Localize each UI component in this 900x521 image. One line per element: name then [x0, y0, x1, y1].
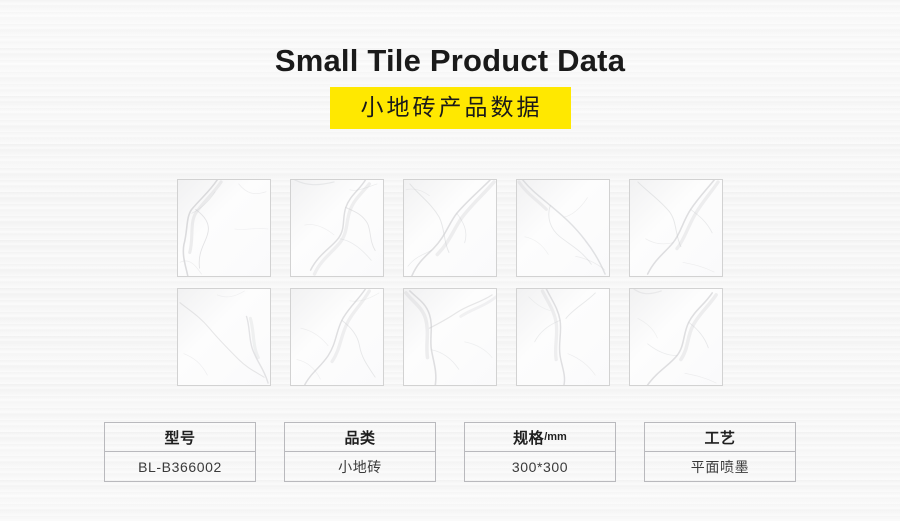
tile-swatch[interactable]	[629, 179, 723, 277]
tile-swatch[interactable]	[290, 288, 384, 386]
marble-vein-graphic	[404, 289, 496, 385]
spec-column-category: 品类 小地砖	[284, 422, 436, 482]
spec-header-label: 规格	[513, 427, 544, 448]
tile-swatch[interactable]	[516, 179, 610, 277]
spec-column-model: 型号 BL-B366002	[104, 422, 256, 482]
spec-value-cell: 小地砖	[285, 452, 435, 481]
marble-vein-graphic	[178, 180, 270, 276]
spec-header-cell: 工艺	[645, 423, 795, 452]
subtitle-container: 小地砖产品数据	[0, 87, 900, 129]
tile-swatch-gallery	[177, 179, 723, 386]
spec-header-label: 型号	[164, 427, 195, 448]
tile-swatch[interactable]	[177, 179, 271, 277]
tile-swatch[interactable]	[629, 288, 723, 386]
marble-vein-graphic	[517, 289, 609, 385]
marble-vein-graphic	[517, 180, 609, 276]
page-title-english: Small Tile Product Data	[0, 44, 900, 78]
marble-vein-graphic	[630, 289, 722, 385]
spec-header-unit: /mm	[544, 431, 567, 443]
spec-value-cell: 300*300	[465, 452, 615, 481]
spec-header-label: 工艺	[704, 427, 735, 448]
spec-column-size: 规格/mm 300*300	[464, 422, 616, 482]
spec-column-process: 工艺 平面喷墨	[644, 422, 796, 482]
marble-vein-graphic	[404, 180, 496, 276]
marble-vein-graphic	[178, 289, 270, 385]
spec-table: 型号 BL-B366002 品类 小地砖 规格/mm 300*300 工艺 平面…	[104, 422, 796, 482]
tile-swatch[interactable]	[177, 288, 271, 386]
tile-swatch[interactable]	[403, 288, 497, 386]
spec-value-cell: BL-B366002	[105, 452, 255, 481]
page-header: Small Tile Product Data 小地砖产品数据	[0, 44, 900, 129]
spec-header-cell: 品类	[285, 423, 435, 452]
marble-vein-graphic	[291, 180, 383, 276]
spec-header-cell: 型号	[105, 423, 255, 452]
spec-header-cell: 规格/mm	[465, 423, 615, 452]
spec-header-label: 品类	[344, 427, 375, 448]
marble-vein-graphic	[630, 180, 722, 276]
marble-vein-graphic	[291, 289, 383, 385]
spec-value-cell: 平面喷墨	[645, 452, 795, 481]
tile-swatch[interactable]	[403, 179, 497, 277]
page-background: Small Tile Product Data 小地砖产品数据	[0, 0, 900, 521]
tile-swatch[interactable]	[290, 179, 384, 277]
tile-swatch[interactable]	[516, 288, 610, 386]
page-title-chinese-highlight: 小地砖产品数据	[330, 87, 571, 129]
